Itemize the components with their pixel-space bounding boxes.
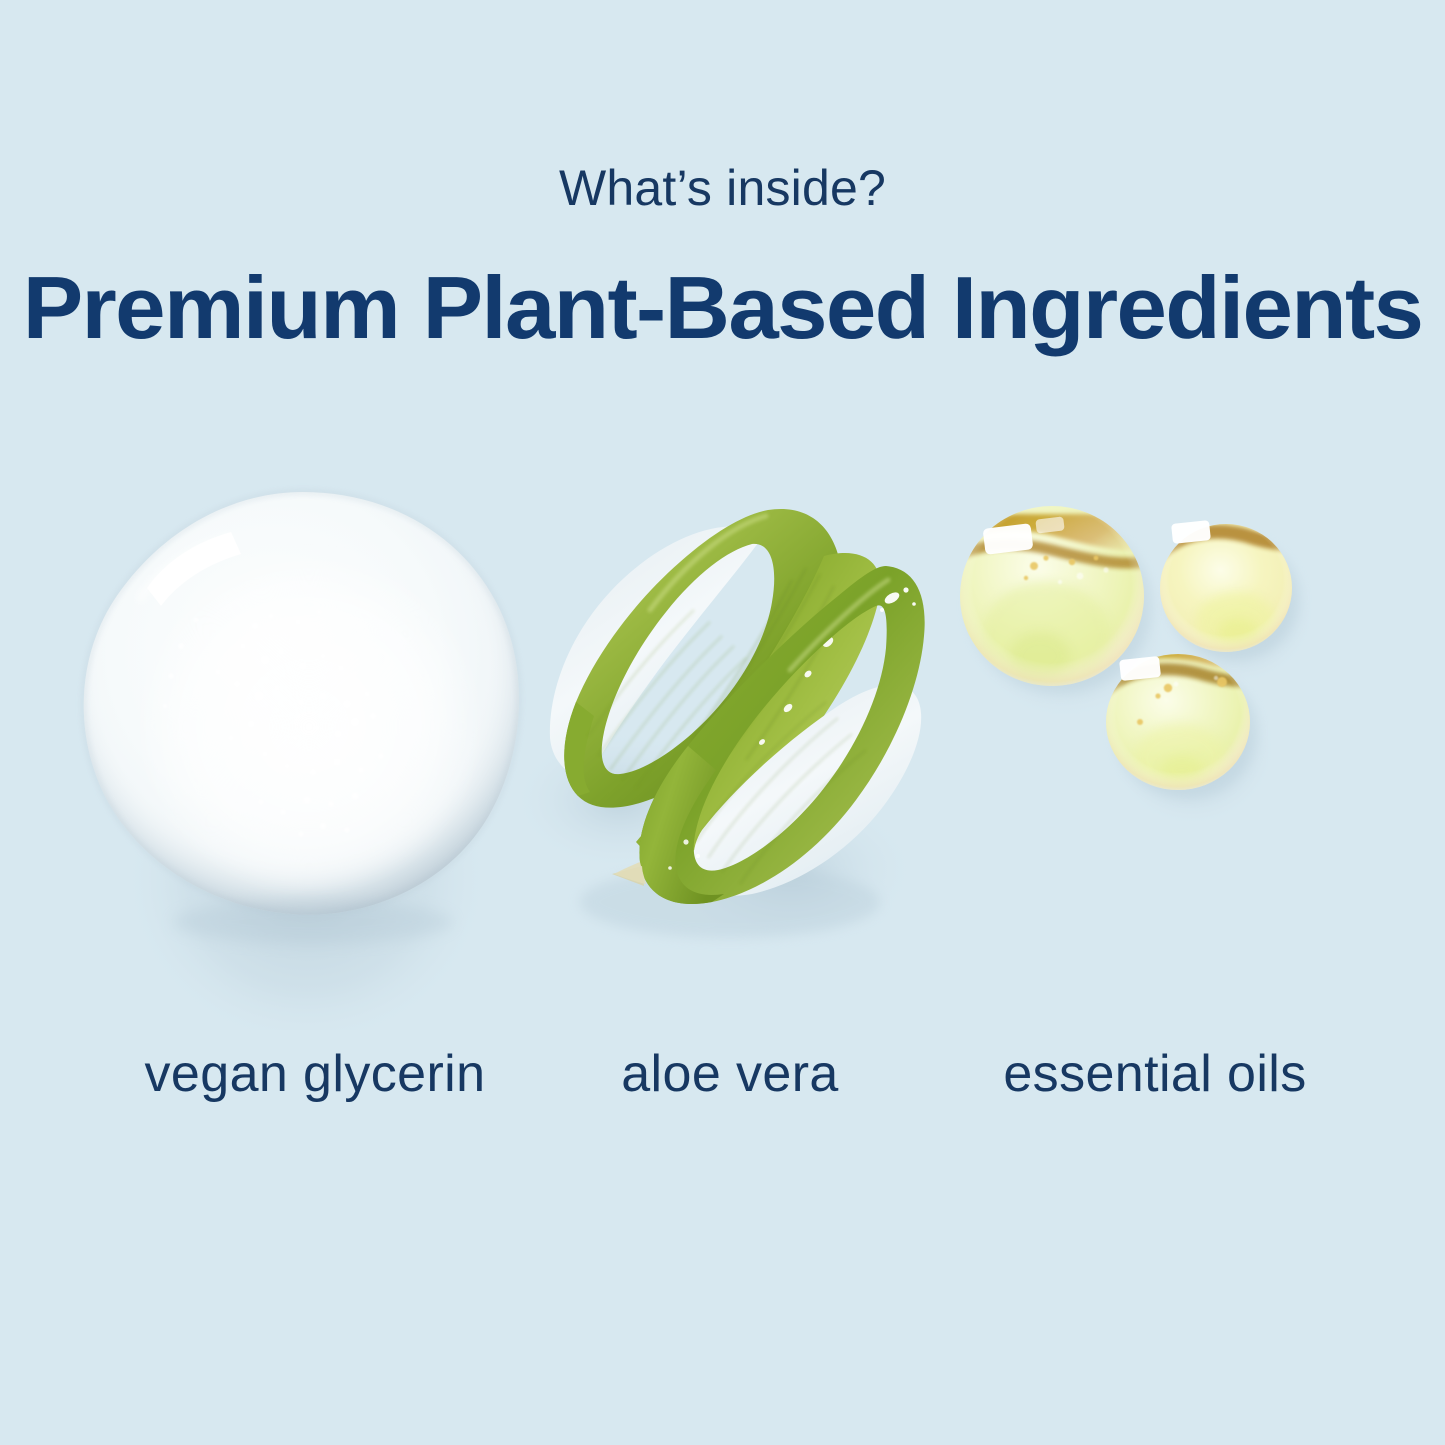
ingredient-essential-oils: essential oils [930,470,1380,1170]
ingredients-row: vegan glycerin [0,470,1445,1170]
page-title: Premium Plant-Based Ingredients [0,264,1445,352]
essential-oils-image [930,470,1380,1030]
ingredient-label-aloe-vera: aloe vera [490,1048,970,1100]
ingredient-aloe-vera: aloe vera [490,470,970,1170]
oil-highlight-top-right [1171,520,1211,544]
oil-highlight-bottom [1119,656,1161,681]
eyebrow-text: What’s inside? [0,163,1445,213]
ingredients-infographic: What’s inside? Premium Plant-Based Ingre… [0,0,1445,1445]
ingredient-label-essential-oils: essential oils [930,1048,1380,1100]
aloe-vera-image [490,470,970,1030]
